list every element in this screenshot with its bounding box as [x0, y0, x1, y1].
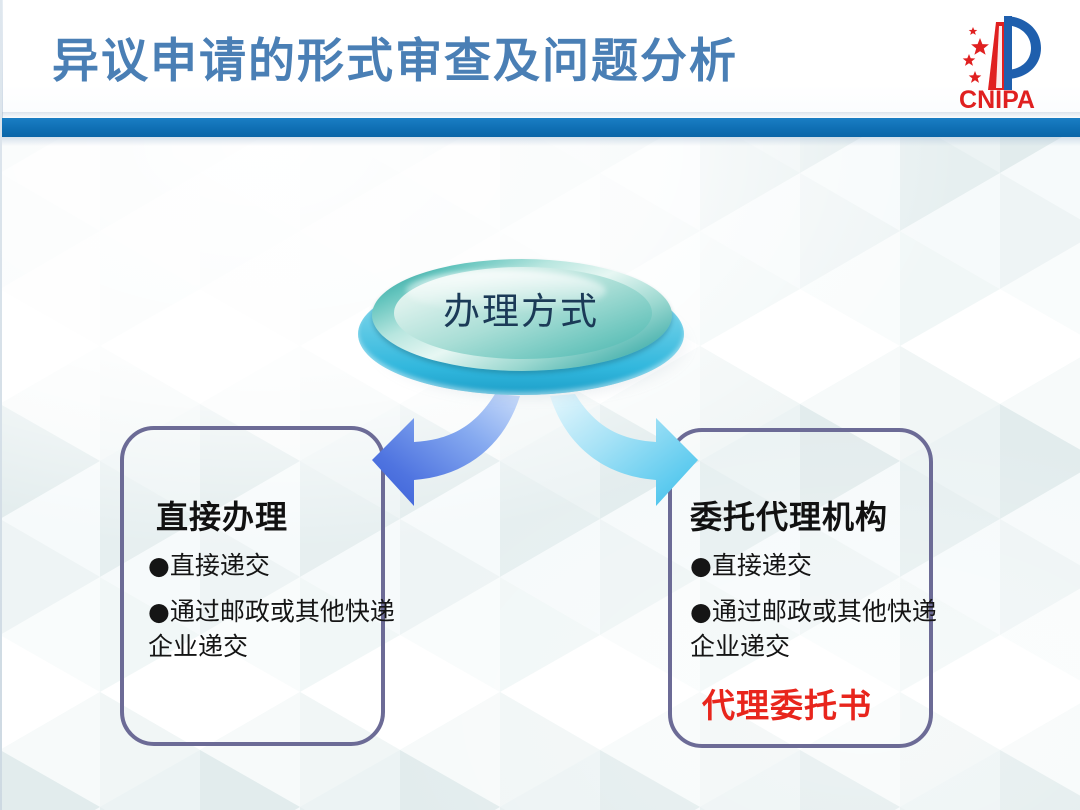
badge-label: 办理方式 — [358, 281, 684, 335]
box-direct-handling: 直接办理 ●直接递交 ●通过邮政或其他快递企业递交 — [120, 426, 385, 746]
list-item: ●直接递交 — [148, 548, 418, 584]
arrow-left-shape — [372, 394, 520, 506]
header-accent-bar — [0, 118, 1080, 137]
cnipa-logo: CNIPA — [942, 8, 1052, 112]
box-entrusted-agency-bullets: ●直接递交 ●通过邮政或其他快递企业递交 — [690, 548, 960, 675]
central-badge-handling-methods: 办理方式 — [358, 255, 688, 405]
arrow-right-shape — [550, 394, 698, 506]
box-direct-handling-heading: 直接办理 — [156, 492, 288, 538]
box-entrusted-agency-heading: 委托代理机构 — [690, 492, 888, 538]
box-entrusted-agency-content: 委托代理机构 ●直接递交 ●通过邮政或其他快递企业递交 代理委托书 — [672, 432, 929, 744]
list-item: ●通过邮政或其他快递企业递交 — [690, 594, 942, 665]
power-of-attorney-note: 代理委托书 — [702, 679, 872, 727]
slide-left-edge — [0, 0, 2, 810]
box-entrusted-agency: 委托代理机构 ●直接递交 ●通过邮政或其他快递企业递交 代理委托书 — [668, 428, 933, 748]
page-title: 异议申请的形式审查及问题分析 — [52, 22, 738, 91]
slide-canvas: 异议申请的形式审查及问题分析 CNIPA — [0, 0, 1080, 810]
list-item: ●直接递交 — [690, 548, 960, 584]
header-accent-bar-glow — [0, 137, 1080, 146]
arrow-group — [370, 388, 700, 548]
cnipa-wordmark: CNIPA — [959, 86, 1035, 112]
box-direct-handling-bullets: ●直接递交 ●通过邮政或其他快递企业递交 — [148, 548, 418, 675]
box-direct-handling-content: 直接办理 ●直接递交 ●通过邮政或其他快递企业递交 — [124, 430, 381, 742]
list-item: ●通过邮政或其他快递企业递交 — [148, 594, 400, 665]
